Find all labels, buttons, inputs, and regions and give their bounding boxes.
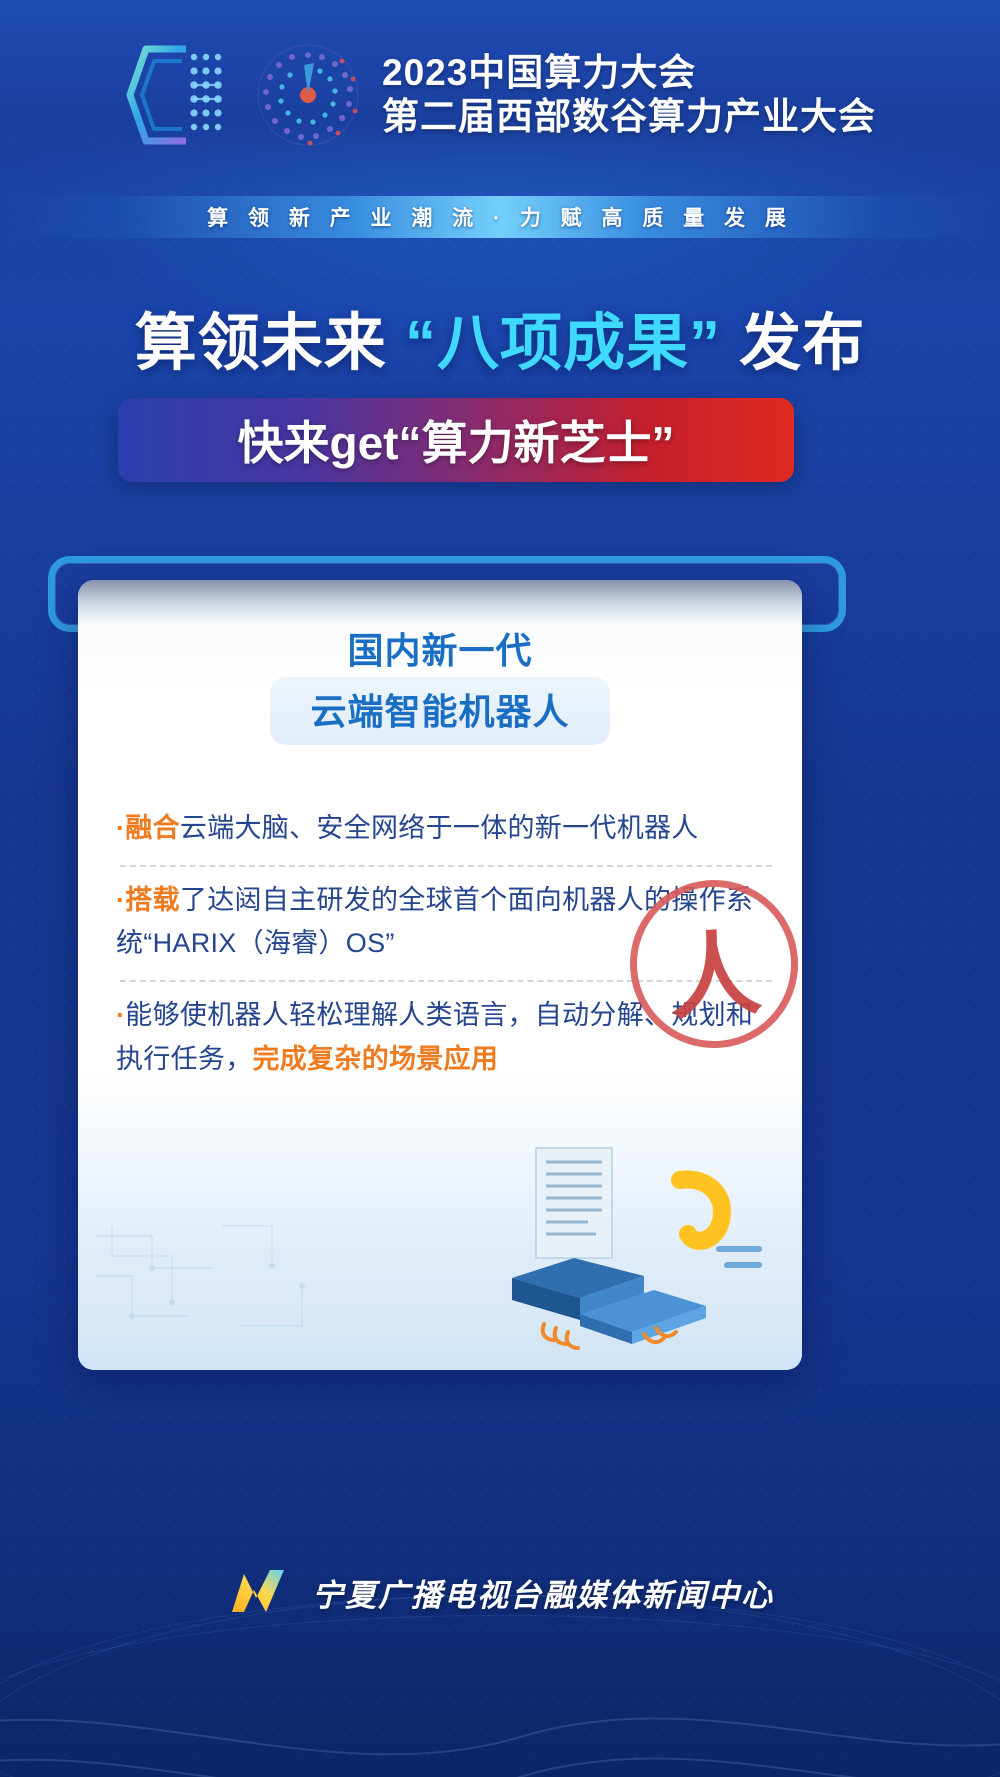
bullet-keyword: 融合 [125, 813, 180, 843]
bullet-dot: · [116, 813, 125, 843]
list-item: ·能够使机器人轻松理解人类语言，自动分解、规划和执行任务，完成复杂的场景应用 [116, 982, 776, 1095]
result-card: 国内新一代 云端智能机器人 ·融合云端大脑、安全网络于一体的新一代机器人 ·搭载… [78, 580, 802, 1370]
card-bullet-list: ·融合云端大脑、安全网络于一体的新一代机器人 ·搭载了达闼自主研发的全球首个面向… [116, 795, 776, 1096]
header-title-block: 2023中国算力大会 第二届西部数谷算力产业大会 [382, 51, 876, 138]
page-title-part2: 发布 [721, 309, 865, 378]
slogan-text: 算 领 新 产 业 潮 流 · 力 赋 高 质 量 发 展 [207, 202, 793, 232]
footer-brand-text: 宁夏广播电视台融媒体新闻中心 [312, 1570, 774, 1615]
page-title: 算领未来 “八项成果” 发布 [0, 292, 1000, 382]
bullet-emphasis: 完成复杂的场景应用 [253, 1044, 499, 1074]
card-top-shadow [78, 580, 802, 626]
document-server-illustration [484, 1138, 774, 1358]
header-title-line-2: 第二届西部数谷算力产业大会 [382, 95, 876, 139]
page-title-part1: 算领未来 [135, 309, 405, 378]
subtitle-banner-text: 快来get“算力新芝士” [238, 407, 675, 473]
footer-brand: 宁夏广播电视台融媒体新闻中心 [0, 1557, 1000, 1627]
footer-wave-decoration [0, 1617, 1000, 1777]
china-computational-power-conference-hex-logo [124, 39, 234, 151]
card-title-line-2: 云端智能机器人 [310, 691, 569, 732]
ningxia-n-logo-icon [226, 1564, 296, 1620]
poster-page: 2023中国算力大会 第二届西部数谷算力产业大会 算 领 新 产 业 潮 流 ·… [0, 0, 1000, 1777]
poster-footer: 宁夏广播电视台融媒体新闻中心 [0, 1447, 1000, 1777]
slogan-bar: 算 领 新 产 业 潮 流 · 力 赋 高 质 量 发 展 [0, 196, 1000, 238]
header-title-line-1: 2023中国算力大会 [382, 51, 876, 95]
radial-fan-logo [252, 39, 364, 151]
bullet-text: 云端大脑、安全网络于一体的新一代机器人 [180, 813, 699, 843]
card-title-pill: 云端智能机器人 [270, 677, 609, 745]
card-title-line-1: 国内新一代 [78, 628, 802, 673]
bullet-text: 能够使机器人轻松理解人类语言，自动分解、 [125, 1000, 671, 1030]
bullet-dot: · [116, 1000, 125, 1030]
poster-header: 2023中国算力大会 第二届西部数谷算力产业大会 [0, 0, 1000, 190]
list-item: ·搭载了达闼自主研发的全球首个面向机器人的操作系统“HARIX（海睿）OS” [116, 867, 776, 980]
page-title-highlight: “八项成果” [405, 309, 721, 378]
bullet-keyword: 搭载 [125, 885, 180, 915]
subtitle-banner: 快来get“算力新芝士” [118, 398, 794, 482]
list-item: ·融合云端大脑、安全网络于一体的新一代机器人 [116, 795, 776, 865]
circuit-decoration-icon [92, 1206, 392, 1356]
card-title: 国内新一代 云端智能机器人 [78, 628, 802, 745]
bullet-dot: · [116, 885, 125, 915]
bullet-text: 了达闼自主研发的全球首个面向机器人的操作系统“HARIX（海睿）OS” [116, 885, 753, 959]
